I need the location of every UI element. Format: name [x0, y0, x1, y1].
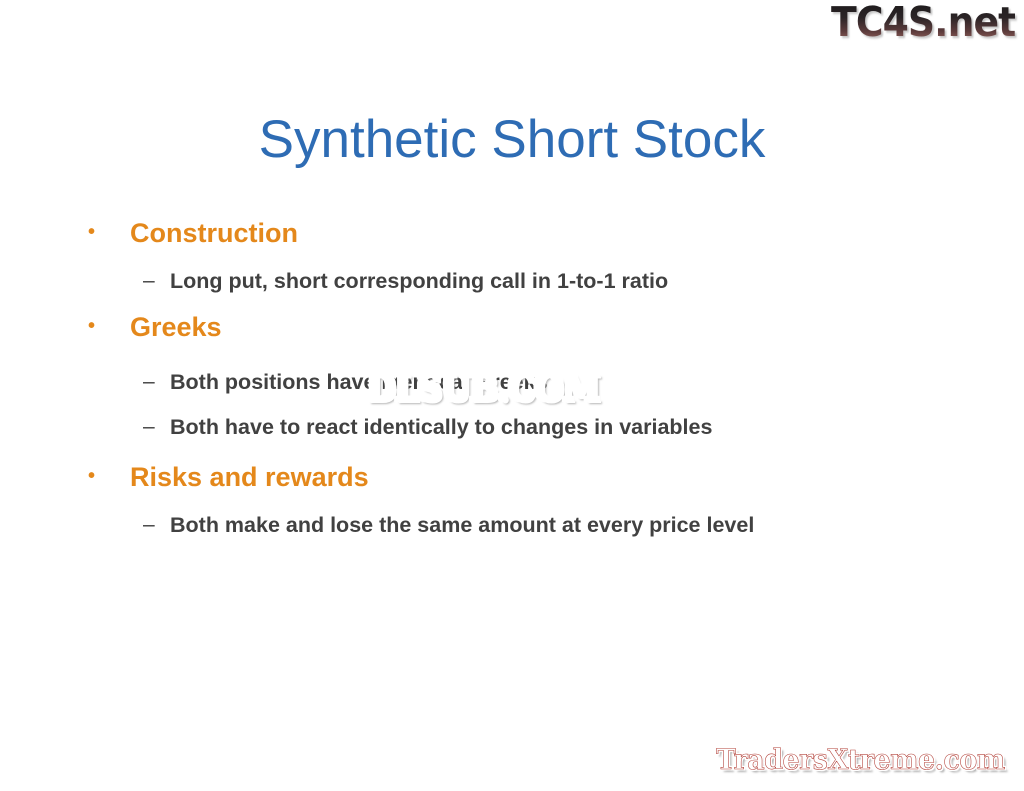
bullet-level2-make-and-lose: – Both make and lose the same amount at …	[143, 510, 968, 541]
slide-canvas: TC4S.net Synthetic Short Stock • Constru…	[0, 0, 1024, 791]
bullet-dot-icon: •	[88, 462, 130, 491]
bullet-level1-greeks: • Greeks	[88, 312, 968, 344]
bullet-level2-react-identically: – Both have to react identically to chan…	[143, 412, 968, 443]
dash-icon: –	[143, 510, 170, 540]
page-title: Synthetic Short Stock	[0, 110, 1024, 169]
bullet-level1-label: Construction	[130, 218, 968, 250]
dash-icon: –	[143, 367, 170, 397]
bullet-level1-construction: • Construction	[88, 218, 968, 250]
bullet-dot-icon: •	[88, 312, 130, 341]
watermark-dlsub: DLSUB.COM	[366, 370, 599, 406]
watermark-dlsub-label: DLSUB.COM	[366, 367, 599, 409]
bullet-level1-label: Greeks	[130, 312, 968, 344]
spacer	[88, 494, 968, 500]
bullet-level2-long-put: – Long put, short corresponding call in …	[143, 266, 968, 297]
bullet-level2-label: Both have to react identically to change…	[170, 412, 730, 443]
dash-icon: –	[143, 412, 170, 442]
bullet-level1-risks-and-rewards: • Risks and rewards	[88, 462, 968, 494]
bullet-level2-label: Long put, short corresponding call in 1-…	[170, 266, 968, 297]
bullet-level1-label: Risks and rewards	[130, 462, 968, 494]
spacer	[88, 344, 968, 357]
watermark-tradersxtreme-label: TradersXtreme.com	[716, 743, 1005, 776]
bullet-dot-icon: •	[88, 218, 130, 247]
watermark-tc4s: TC4S.net	[831, 2, 1015, 43]
bullet-level2-label: Both make and lose the same amount at ev…	[170, 510, 968, 541]
spacer	[88, 250, 968, 256]
dash-icon: –	[143, 266, 170, 296]
watermark-tradersxtreme: TradersXtreme.com	[716, 746, 1005, 774]
